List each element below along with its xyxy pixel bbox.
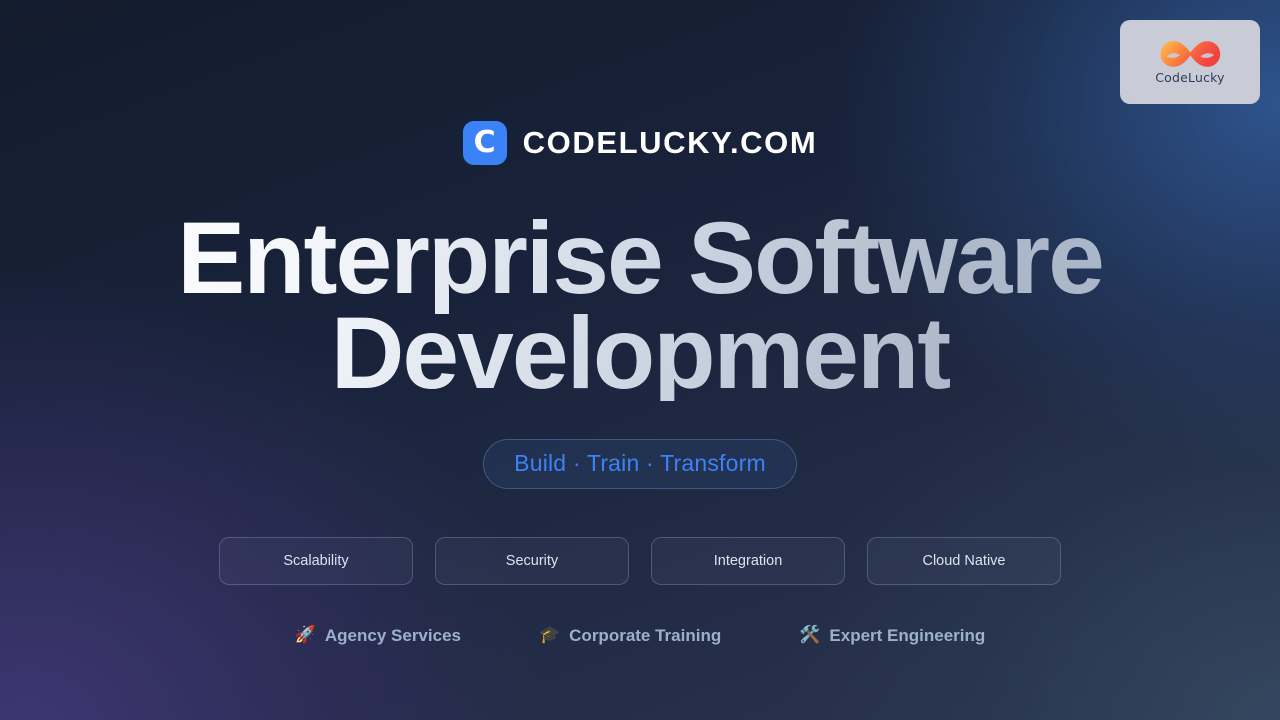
codelucky-c-mark-icon: C [463, 121, 507, 165]
rocket-icon: 🚀 [295, 627, 316, 644]
feature-chip-security[interactable]: Security [435, 537, 629, 585]
brand-name: CODELUCKY.COM [523, 125, 818, 161]
hero-page: CodeLucky C CODELUCKY.COM Enterprise Sof… [0, 0, 1280, 720]
service-label: Corporate Training [569, 626, 721, 646]
service-label: Expert Engineering [829, 626, 985, 646]
feature-chip-integration[interactable]: Integration [651, 537, 845, 585]
service-label: Agency Services [325, 626, 461, 646]
tagline-pill: Build · Train · Transform [483, 439, 797, 489]
page-title: Enterprise Software Development [110, 211, 1170, 401]
hammer-and-wrench-icon: 🛠️ [799, 627, 820, 644]
graduation-cap-icon: 🎓 [539, 627, 560, 644]
chip-label: Cloud Native [922, 553, 1005, 569]
service-row: 🚀 Agency Services 🎓 Corporate Training 🛠… [295, 626, 986, 646]
service-corporate-training[interactable]: 🎓 Corporate Training [539, 626, 721, 646]
chip-label: Security [506, 553, 558, 569]
hero-content: C CODELUCKY.COM Enterprise Software Deve… [0, 0, 1280, 720]
brand-lockup: C CODELUCKY.COM [463, 121, 818, 165]
feature-chip-scalability[interactable]: Scalability [219, 537, 413, 585]
chip-label: Integration [714, 553, 783, 569]
service-expert-engineering[interactable]: 🛠️ Expert Engineering [799, 626, 985, 646]
tagline-text: Build · Train · Transform [514, 450, 766, 477]
feature-chip-row: Scalability Security Integration Cloud N… [219, 537, 1061, 585]
chip-label: Scalability [283, 553, 348, 569]
service-agency-services[interactable]: 🚀 Agency Services [295, 626, 461, 646]
feature-chip-cloud-native[interactable]: Cloud Native [867, 537, 1061, 585]
headline-line-2: Development [331, 296, 950, 410]
